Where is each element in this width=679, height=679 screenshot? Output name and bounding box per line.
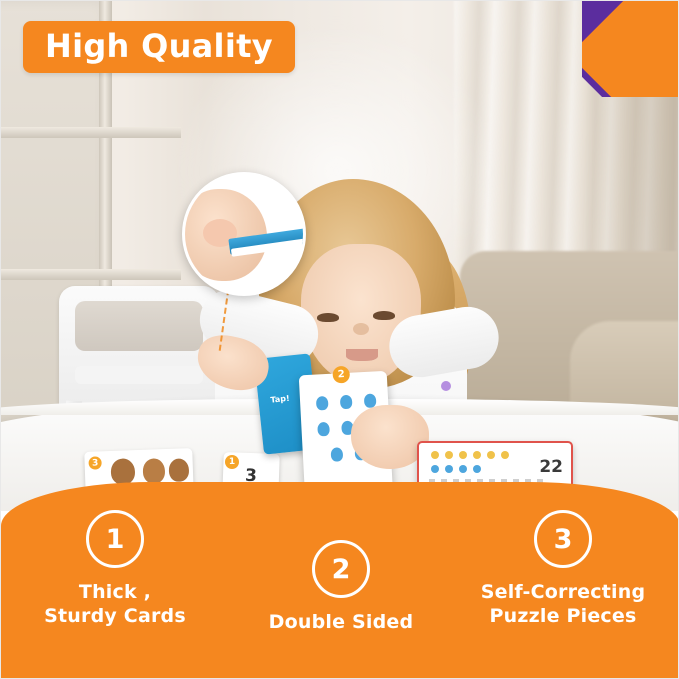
- feature-1-number: 1: [86, 510, 144, 568]
- card-held-number: 2: [332, 366, 350, 384]
- feature-1-label: Thick , Sturdy Cards: [25, 580, 205, 629]
- callout-zoom-circle: [182, 172, 306, 296]
- chair-back-cutout: [75, 301, 203, 351]
- monkey-figure: [110, 458, 135, 485]
- corner-decoration: [582, 1, 678, 97]
- card-blue-label: Tap!: [270, 394, 290, 405]
- bug-icon: [317, 422, 330, 437]
- window-frame-horizontal-2: [1, 269, 181, 280]
- feature-3-number: 3: [534, 510, 592, 568]
- girl-nose: [353, 323, 369, 335]
- counter-dot: [431, 451, 439, 459]
- counter-dot: [445, 465, 453, 473]
- card-three-badge: 1: [225, 455, 239, 469]
- counter-dot: [431, 465, 439, 473]
- chair-slat: [75, 366, 203, 384]
- girl-eye-right: [373, 311, 395, 320]
- window-frame-horizontal-1: [1, 127, 181, 138]
- girl-eye-left: [317, 313, 339, 322]
- feature-2-number: 2: [312, 540, 370, 598]
- bug-icon: [340, 395, 353, 410]
- feature-3: 3 Self-Correcting Puzzle Pieces: [468, 510, 658, 629]
- bug-icon: [316, 396, 329, 411]
- counter-dot: [473, 465, 481, 473]
- feature-3-label: Self-Correcting Puzzle Pieces: [468, 580, 658, 629]
- feature-2-label: Double Sided: [251, 610, 431, 634]
- counter-dot: [445, 451, 453, 459]
- counter-dot: [473, 451, 481, 459]
- monkey-figure: [169, 458, 190, 482]
- features-panel: 1 Thick , Sturdy Cards 2 Double Sided 3 …: [1, 482, 679, 678]
- girl-mouth: [346, 349, 378, 361]
- lifestyle-photo: 3 3 1 Tap! 2 22: [1, 1, 679, 511]
- product-infographic: 3 3 1 Tap! 2 22: [0, 0, 679, 679]
- counter-dot: [501, 451, 509, 459]
- card-stack-number: 22: [539, 457, 563, 477]
- card-monkey-number: 3: [88, 456, 101, 469]
- shirt-dot: [441, 381, 451, 391]
- monkey-figure: [143, 458, 166, 484]
- feature-1: 1 Thick , Sturdy Cards: [25, 510, 205, 629]
- page-title: High Quality: [23, 21, 295, 73]
- counter-dot: [487, 451, 495, 459]
- bug-icon: [331, 447, 344, 462]
- counter-dot: [459, 465, 467, 473]
- counter-dot: [459, 451, 467, 459]
- feature-2: 2 Double Sided: [251, 540, 431, 634]
